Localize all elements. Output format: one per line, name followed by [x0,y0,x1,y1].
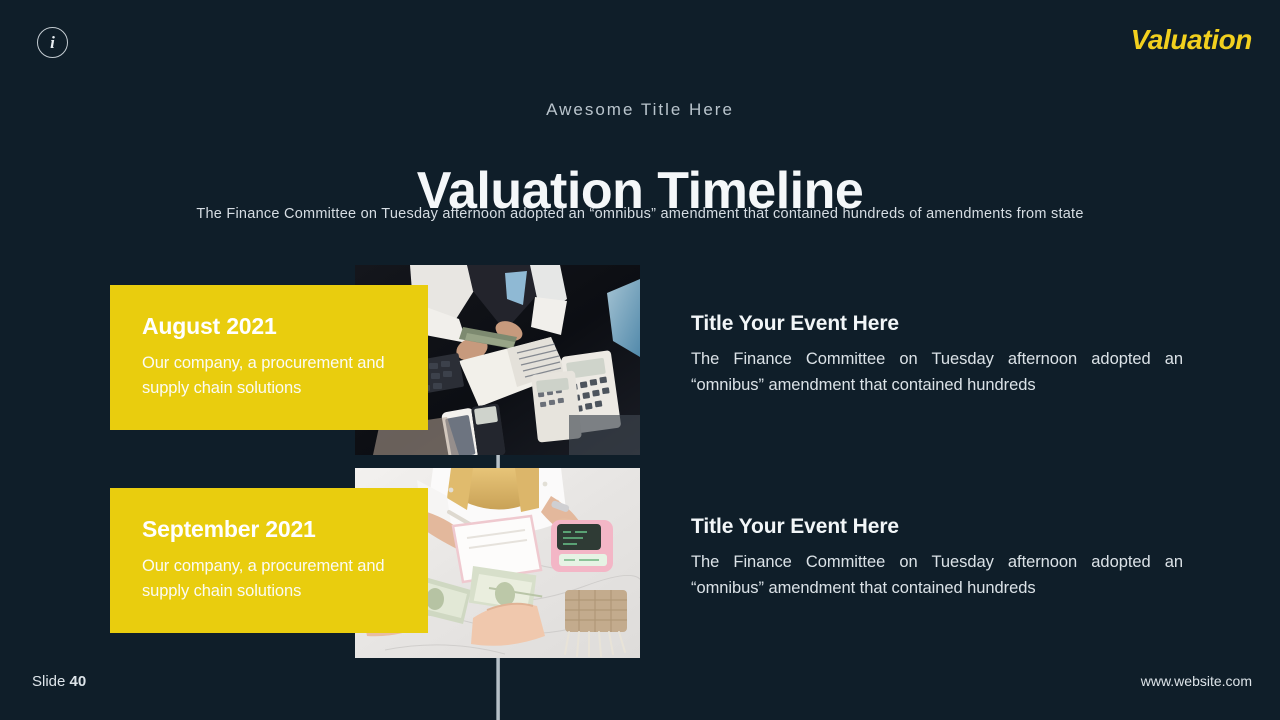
card-title: September 2021 [142,518,394,541]
subtitle-text: The Finance Committee on Tuesday afterno… [0,206,1280,222]
card-body: Our company, a procurement and supply ch… [142,554,394,604]
slide-canvas: i Valuation Awesome Title Here Valuation… [0,0,1280,720]
event-title: Title Your Event Here [691,516,1183,537]
slide-number-indicator: Slide 40 [32,673,86,690]
slide-number: 40 [70,673,87,690]
website-label[interactable]: www.website.com [1141,673,1252,689]
eyebrow-text: Awesome Title Here [0,100,1280,120]
slide-word: Slide [32,673,65,690]
timeline-event: Title Your Event Here The Finance Commit… [691,313,1183,398]
event-title: Title Your Event Here [691,313,1183,334]
timeline-card[interactable]: August 2021 Our company, a procurement a… [110,285,428,430]
brand-logo: Valuation [1131,24,1252,56]
event-body: The Finance Committee on Tuesday afterno… [691,549,1183,601]
info-icon-glyph: i [50,34,55,51]
card-body: Our company, a procurement and supply ch… [142,351,394,401]
event-body: The Finance Committee on Tuesday afterno… [691,346,1183,398]
timeline-event: Title Your Event Here The Finance Commit… [691,516,1183,601]
info-icon[interactable]: i [37,27,68,58]
card-title: August 2021 [142,315,394,338]
timeline-card[interactable]: September 2021 Our company, a procuremen… [110,488,428,633]
